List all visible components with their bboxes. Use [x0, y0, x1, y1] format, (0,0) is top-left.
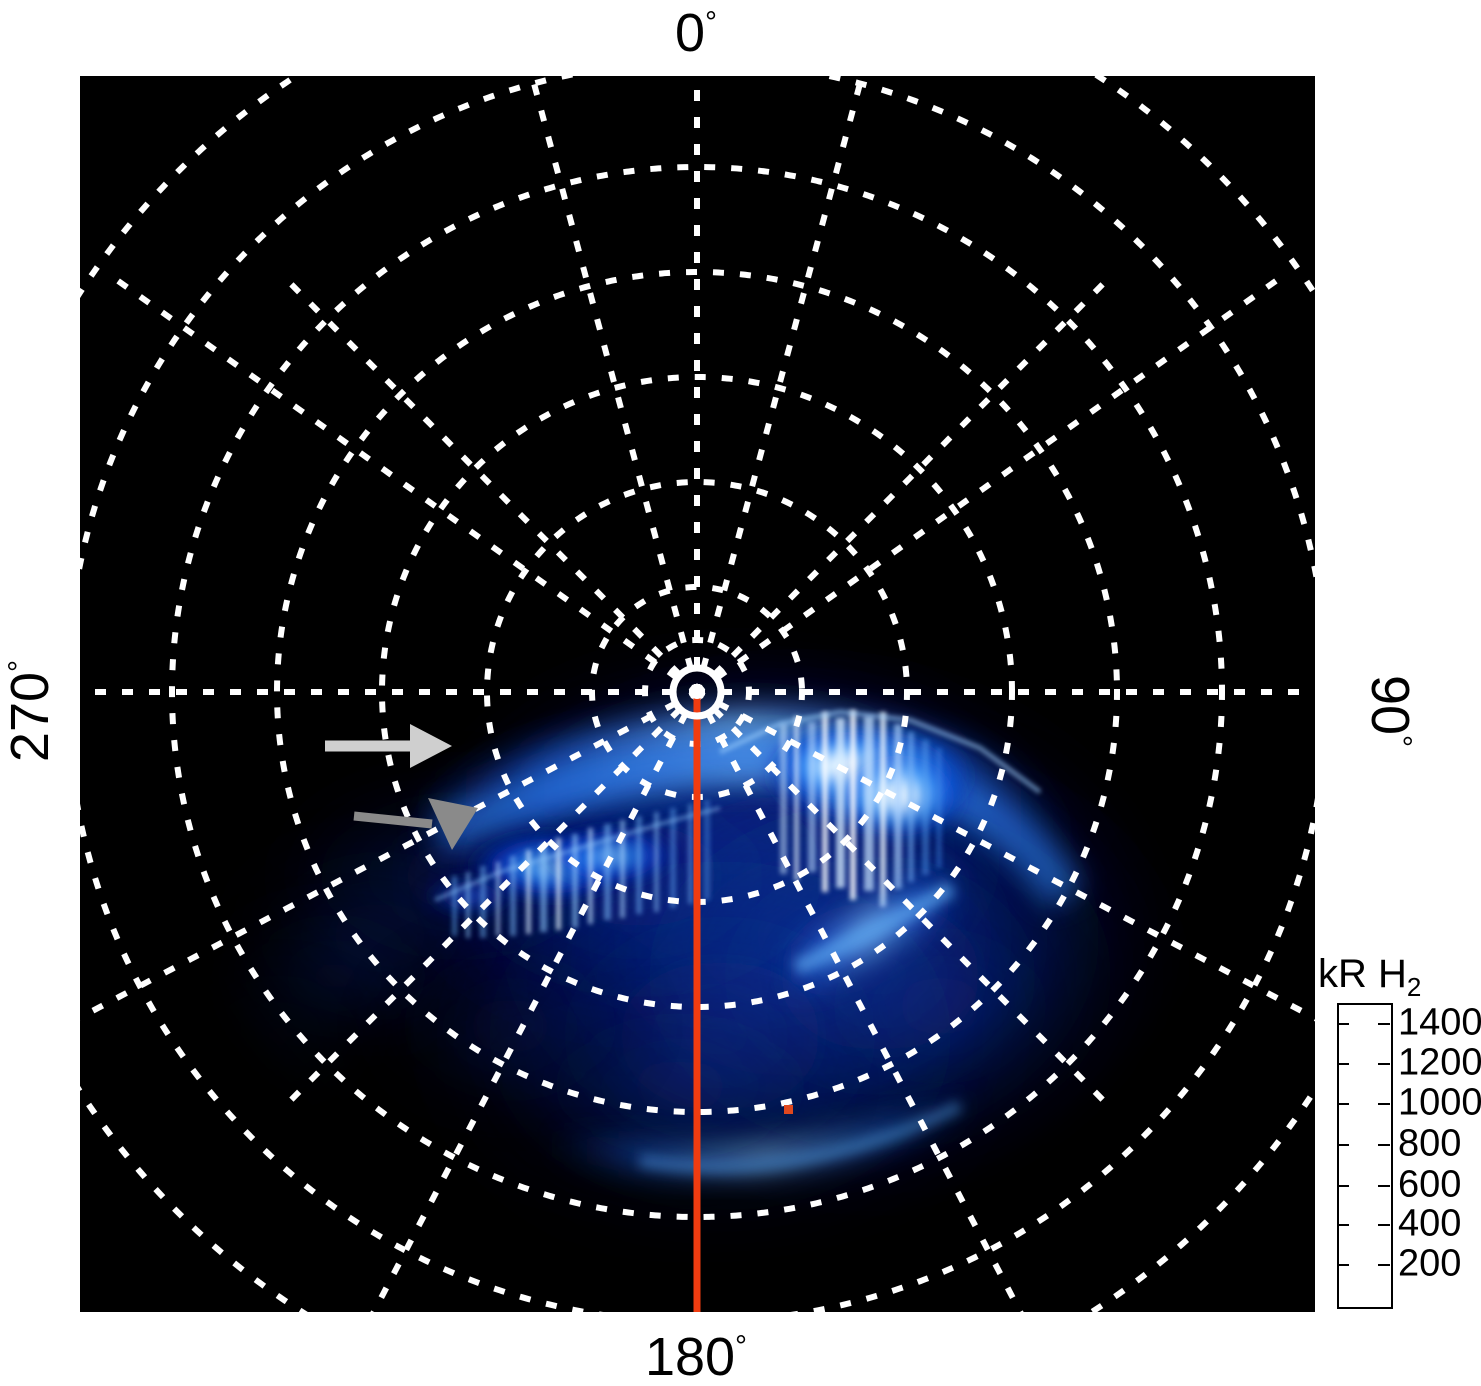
colorbar-tick-800-right	[1378, 1144, 1390, 1146]
colorbar-tick-1400-right	[1378, 1023, 1390, 1025]
colorbar-tick-1000-left	[1337, 1103, 1349, 1105]
degree-symbol-180: °	[735, 1330, 747, 1363]
colorbar-tick-600-right	[1378, 1185, 1390, 1187]
colorbar-tick-600-left	[1337, 1185, 1349, 1187]
angle-label-90: 90°	[1363, 611, 1417, 811]
colorbar-tick-200-right	[1378, 1264, 1390, 1266]
colorbar-tick-800-left	[1337, 1144, 1349, 1146]
colorbar-tick-1000-right	[1378, 1103, 1390, 1105]
colorbar-label-400: 400	[1398, 1203, 1461, 1246]
degree-symbol-0: °	[705, 6, 717, 39]
colorbar-title-subscript: 2	[1407, 972, 1421, 1002]
colorbar-label-1200: 1200	[1398, 1042, 1481, 1085]
colorbar-label-200: 200	[1398, 1243, 1461, 1286]
colorbar-tick-400-right	[1378, 1224, 1390, 1226]
colorbar-tick-1200-right	[1378, 1063, 1390, 1065]
colorbar-label-800: 800	[1398, 1123, 1461, 1166]
colorbar-tick-1400-left	[1337, 1023, 1349, 1025]
colorbar-label-1400: 1400	[1398, 1002, 1481, 1045]
colorbar-tick-200-left	[1337, 1264, 1349, 1266]
colorbar-label-1000: 1000	[1398, 1082, 1481, 1125]
red-pixel-marker	[784, 1105, 793, 1114]
angle-label-0: 0°	[0, 6, 1392, 60]
colorbar-title: kR H2	[1318, 952, 1421, 997]
colorbar-label-600: 600	[1398, 1164, 1461, 1207]
colorbar-tick-1200-left	[1337, 1063, 1349, 1065]
angle-label-270: 270°	[3, 611, 57, 811]
degree-symbol-90: °	[1384, 735, 1417, 747]
colorbar-tick-400-left	[1337, 1224, 1349, 1226]
angle-label-180: 180°	[0, 1330, 1392, 1384]
degree-symbol-270: °	[3, 660, 36, 672]
polar-plot-area	[80, 76, 1315, 1312]
polar-aurora-figure: 0° 180° 270° 90°	[0, 0, 1481, 1386]
